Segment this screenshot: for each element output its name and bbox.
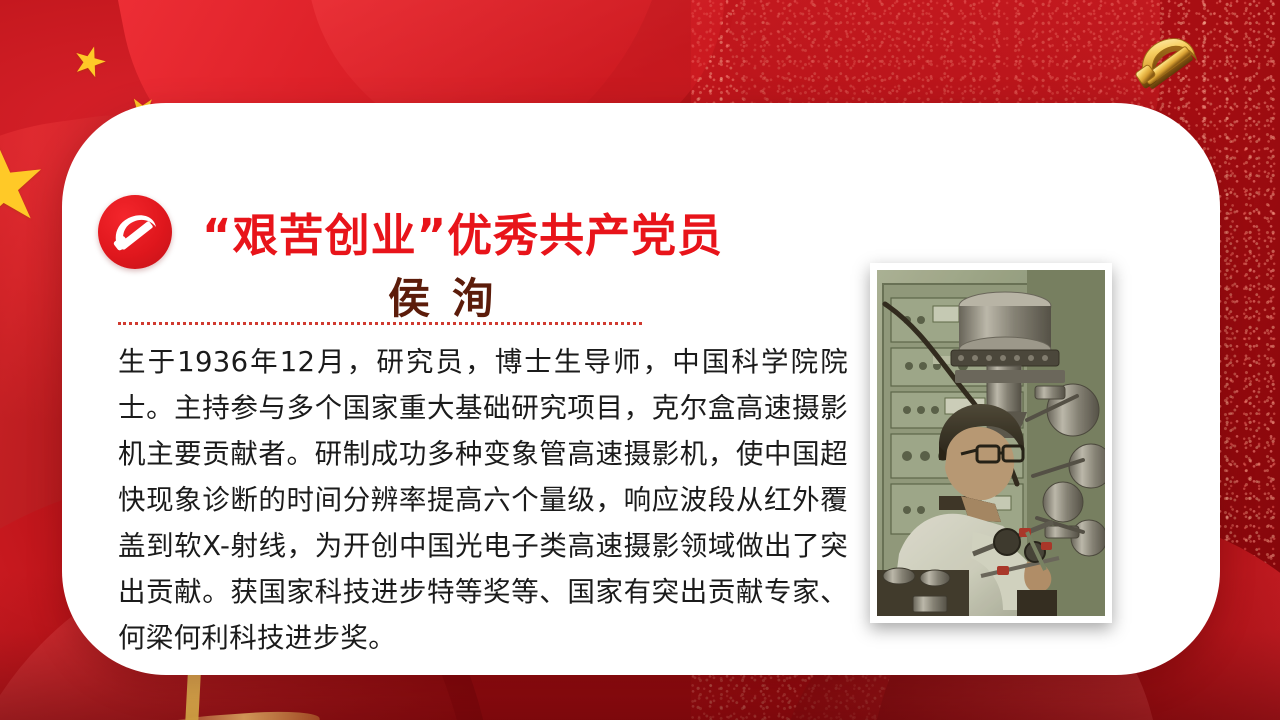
biography-text: 生于1936年12月，研究员，博士生导师，中国科学院院士。主持参与多个国家重大基… <box>118 339 848 661</box>
flag-star-small-1: ★ <box>67 38 112 86</box>
portrait-photo <box>870 263 1112 623</box>
divider <box>118 322 642 325</box>
content-card: “艰苦创业”优秀共产党员 侯洵 生于1936年12月，研究员，博士生导师，中国科… <box>62 103 1220 675</box>
portrait-photo-image <box>877 270 1105 616</box>
slide-root: ★ ★ ★ ★ ★ <box>0 0 1280 720</box>
hammer-sickle-gold-icon <box>1122 18 1218 104</box>
party-emblem-icon <box>98 195 172 269</box>
flag-star-large: ★ <box>0 127 54 242</box>
page-title: “艰苦创业”优秀共产党员 <box>202 199 862 264</box>
person-name: 侯洵 <box>202 265 702 326</box>
